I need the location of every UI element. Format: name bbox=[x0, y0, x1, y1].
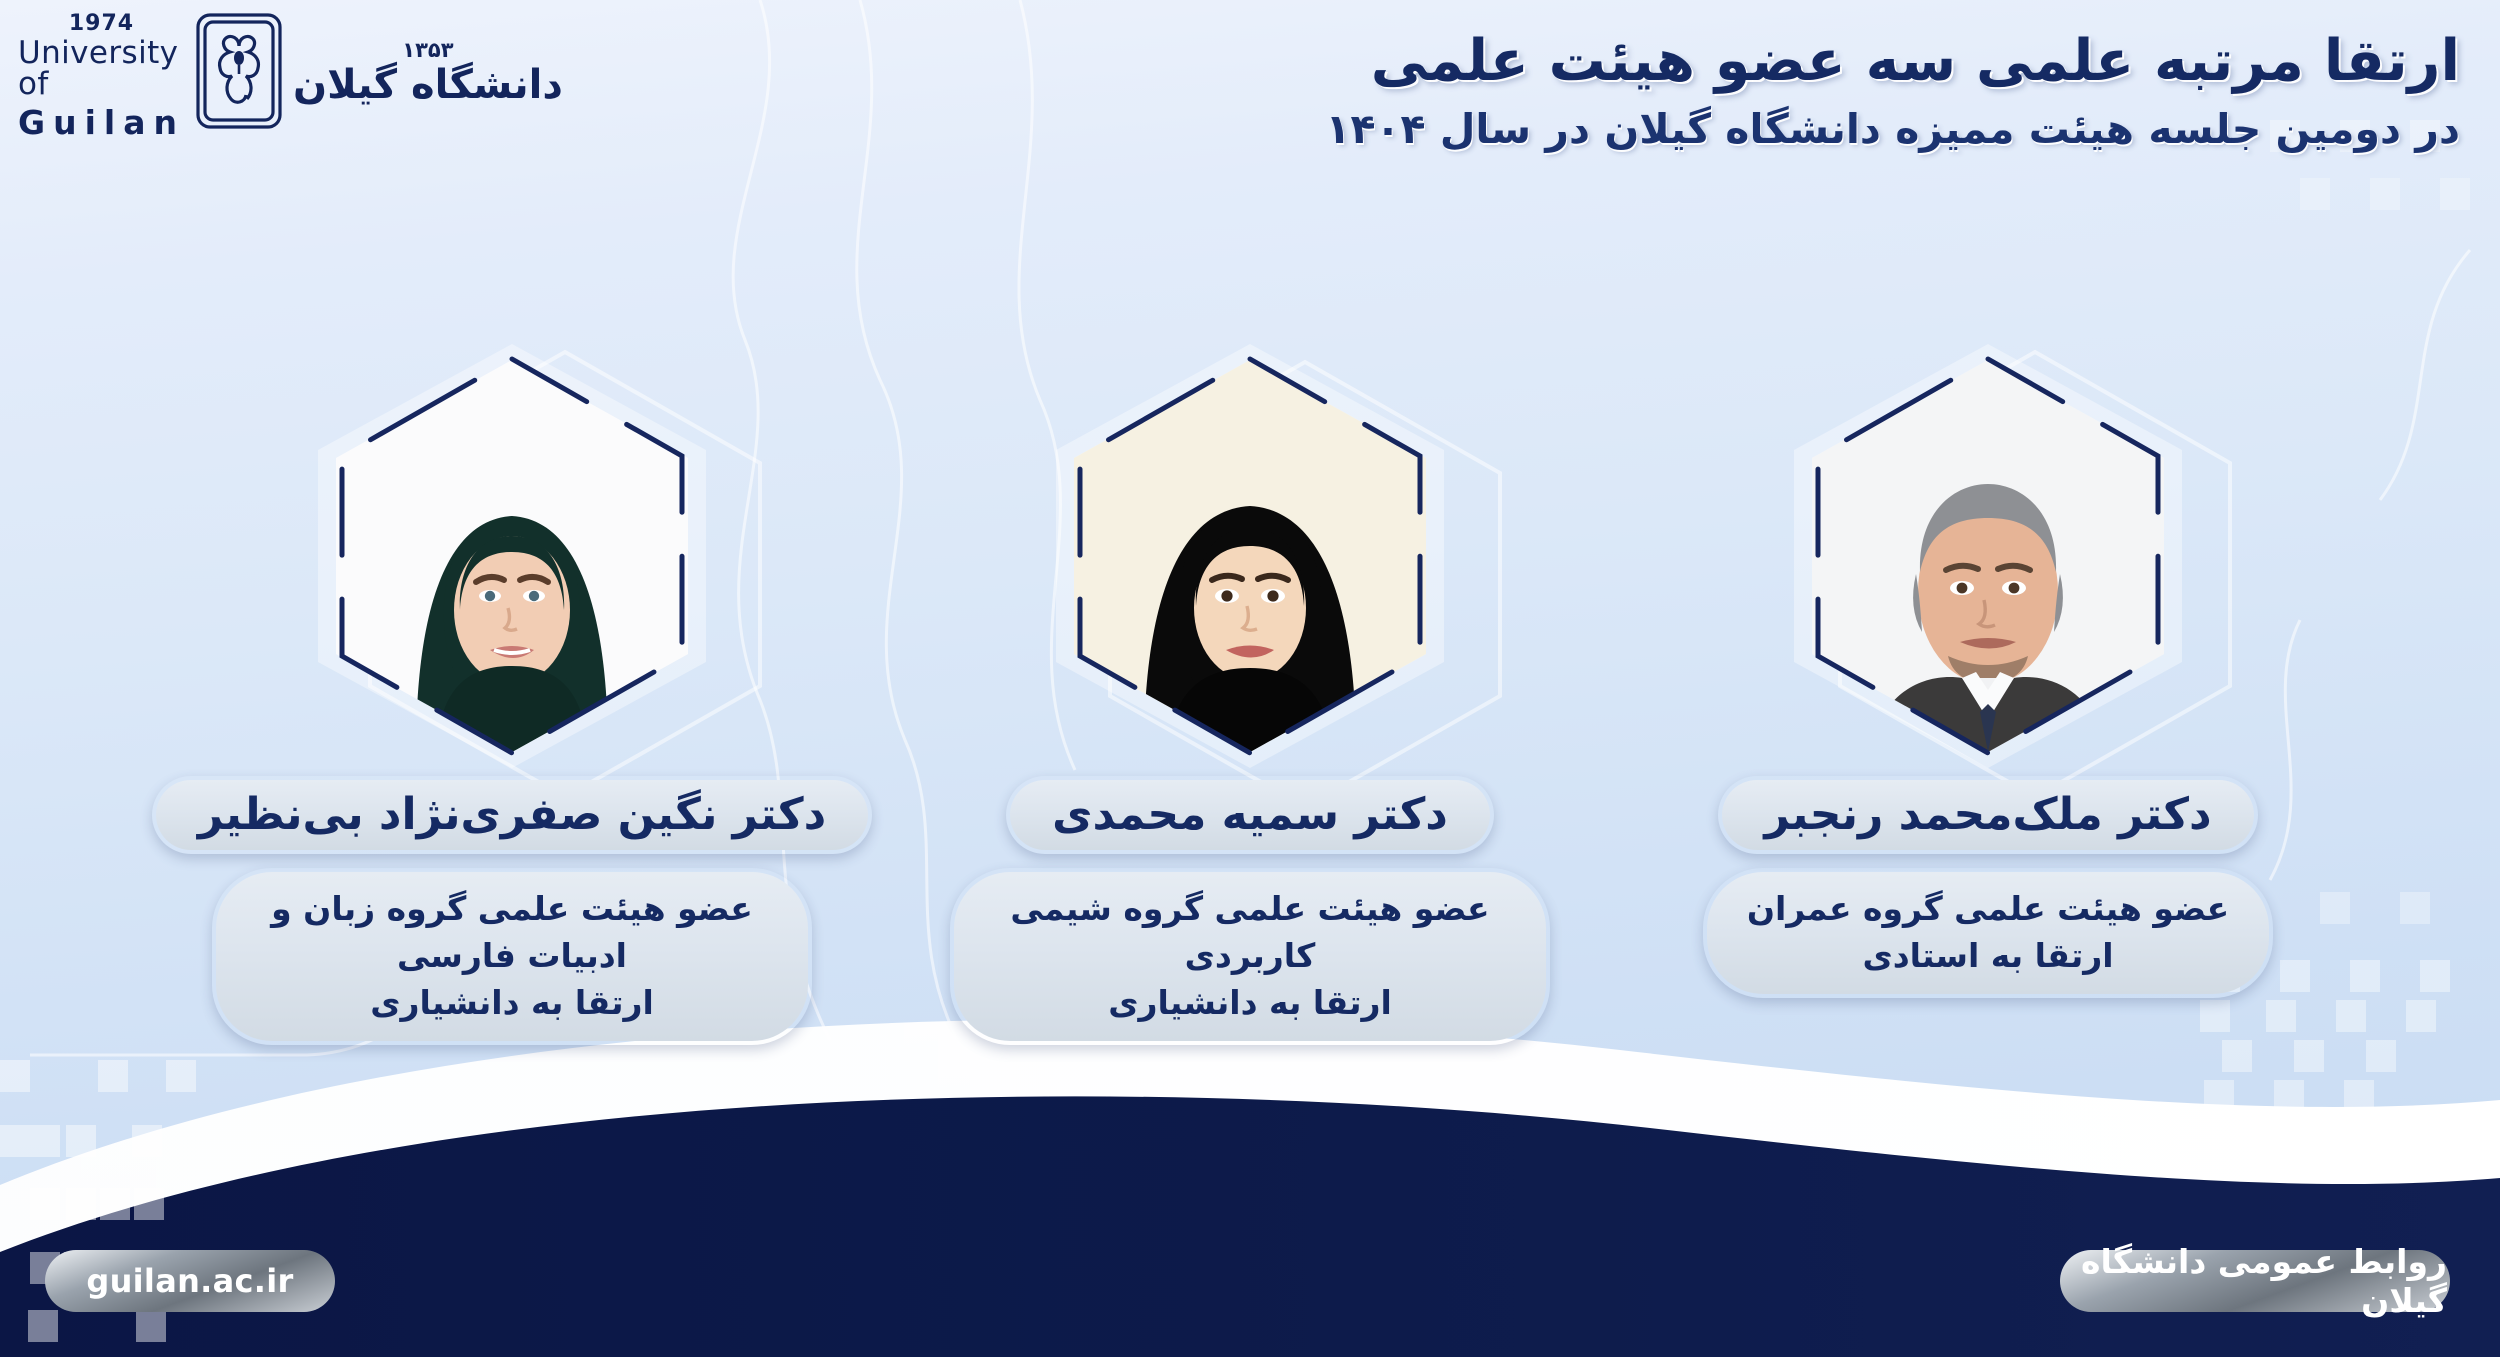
public-relations-label: روابط عمومی دانشگاه گیلان bbox=[2063, 1242, 2447, 1320]
person-role-pill: عضو هیئت علمی گروه زبان و ادبیات فارسی ا… bbox=[212, 868, 812, 1045]
university-logo: 1974 University of Guilan ۱۳۵۳ دانشگاه گ… bbox=[18, 8, 488, 138]
public-relations-badge[interactable]: روابط عمومی دانشگاه گیلان bbox=[2060, 1250, 2450, 1312]
logo-guilan-word: Guilan bbox=[18, 106, 185, 139]
logo-persian-text: ۱۳۵۳ دانشگاه گیلان bbox=[293, 38, 563, 108]
person-name-pill: دکتر نگین صفری‌نژاد بی‌نظیر bbox=[152, 776, 872, 854]
headline-block: ارتقا مرتبه علمی سه عضو هیئت علمی در دوم… bbox=[980, 26, 2460, 157]
poster-canvas: 1974 University of Guilan ۱۳۵۳ دانشگاه گ… bbox=[0, 0, 2500, 1357]
website-url: guilan.ac.ir bbox=[86, 1262, 293, 1300]
logo-year-en: 1974 bbox=[69, 13, 134, 35]
logo-university-name-fa: دانشگاه گیلان bbox=[293, 62, 563, 108]
person-card: دکتر نگین صفری‌نژاد بی‌نظیر عضو هیئت علم… bbox=[192, 360, 832, 1045]
person-department: عضو هیئت علمی گروه زبان و ادبیات فارسی bbox=[271, 889, 753, 975]
person-role-text: عضو هیئت علمی گروه عمران ارتقا به استادی bbox=[1747, 886, 2229, 980]
person-name: دکتر ملک‌محمد رنجبر bbox=[1764, 790, 2211, 841]
person-name-pill: دکتر ملک‌محمد رنجبر bbox=[1718, 776, 2257, 854]
person-card: دکتر ملک‌محمد رنجبر عضو هیئت علمی گروه ع… bbox=[1668, 360, 2308, 998]
person-name: دکتر نگین صفری‌نژاد بی‌نظیر bbox=[198, 790, 826, 841]
person-promotion: ارتقا به دانشیاری bbox=[1108, 983, 1392, 1022]
hexagon-frame-2 bbox=[1064, 351, 1436, 761]
logo-english-text: 1974 University of Guilan bbox=[18, 7, 185, 139]
person-promotion: ارتقا به دانشیاری bbox=[370, 983, 654, 1022]
page-subtitle: در دومین جلسه هیئت ممیزه دانشگاه گیلان د… bbox=[980, 103, 2460, 156]
person-name: دکتر سمیه محمدی bbox=[1052, 790, 1448, 841]
person-role-pill: عضو هیئت علمی گروه شیمی کاربردی ارتقا به… bbox=[950, 868, 1550, 1045]
logo-university-word: University of bbox=[18, 38, 185, 100]
people-row: دکتر نگین صفری‌نژاد بی‌نظیر عضو هیئت علم… bbox=[0, 360, 2500, 1040]
portrait-hexagon bbox=[1074, 360, 1426, 752]
portrait-hexagon bbox=[336, 360, 688, 752]
person-department: عضو هیئت علمی گروه شیمی کاربردی bbox=[1010, 889, 1489, 975]
hexagon-frame-1 bbox=[326, 351, 698, 761]
hexagon-frame-3 bbox=[1802, 351, 2174, 761]
person-card: دکتر سمیه محمدی عضو هیئت علمی گروه شیمی … bbox=[930, 360, 1570, 1045]
portrait-hexagon bbox=[1812, 360, 2164, 752]
person-department: عضو هیئت علمی گروه عمران bbox=[1747, 889, 2229, 928]
page-title: ارتقا مرتبه علمی سه عضو هیئت علمی bbox=[980, 26, 2460, 97]
guilan-emblem-icon bbox=[195, 12, 283, 134]
person-role-pill: عضو هیئت علمی گروه عمران ارتقا به استادی bbox=[1703, 868, 2273, 998]
person-role-text: عضو هیئت علمی گروه شیمی کاربردی ارتقا به… bbox=[994, 886, 1506, 1027]
logo-year-fa: ۱۳۵۳ bbox=[402, 38, 453, 62]
person-name-pill: دکتر سمیه محمدی bbox=[1006, 776, 1494, 854]
website-badge[interactable]: guilan.ac.ir bbox=[45, 1250, 335, 1312]
person-promotion: ارتقا به استادی bbox=[1862, 936, 2113, 975]
person-role-text: عضو هیئت علمی گروه زبان و ادبیات فارسی ا… bbox=[256, 886, 768, 1027]
